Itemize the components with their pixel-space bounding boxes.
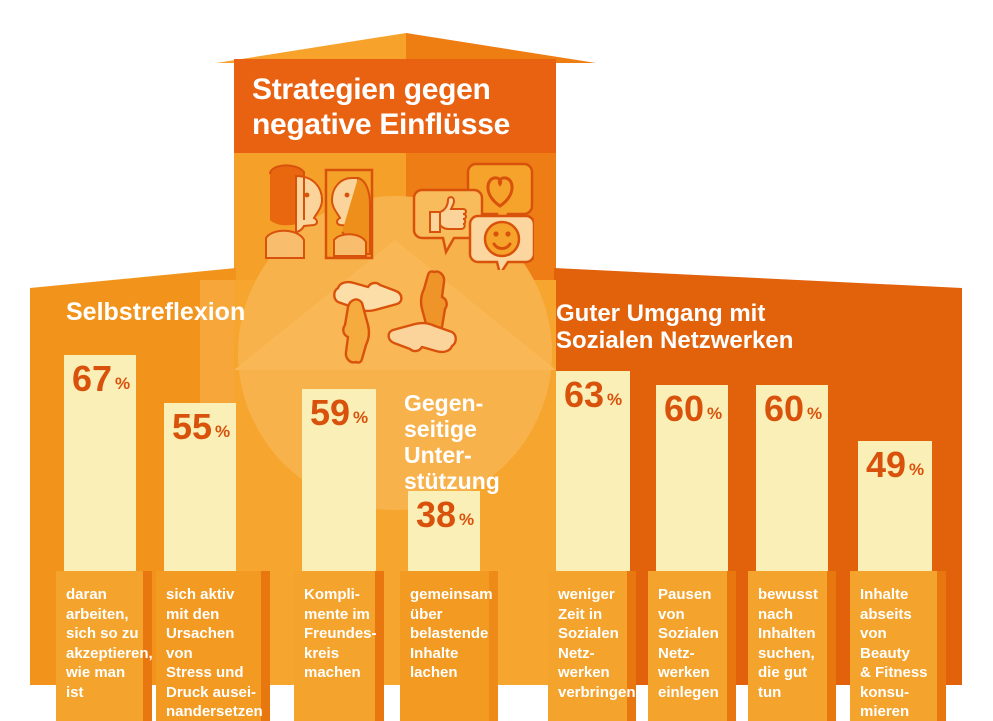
bar-caption-box-6: Pausen von Sozialen Netz- werken einlege… [648,571,736,721]
bar-value-number: 60 [764,388,804,429]
bar-caption-5: weniger Zeit in Sozialen Netz- werken ve… [558,585,626,702]
bar-value-7: 60% [764,391,822,432]
caption-edge [827,571,836,721]
four-hands-support-icon [330,262,460,377]
bar-caption-box-4: gemeinsam über belastende Inhalte lachen [400,571,498,721]
bar-value-3: 59% [310,395,368,436]
percent-symbol: % [353,408,368,427]
section-heading-guter-umgang: Guter Umgang mit Sozialen Netzwerken [556,300,856,354]
bar-value-8: 49% [866,447,924,488]
bar-caption-box-3: Kompli- mente im Freundes- kreis machen [294,571,384,721]
bar-caption-3: Kompli- mente im Freundes- kreis machen [304,585,374,683]
percent-symbol: % [707,404,722,423]
bar-value-number: 38 [416,494,456,535]
bar-group-1: 67% daran arbeiten, sich so zu akzeptier… [64,355,136,685]
bar-group-8: 49% Inhalte abseits von Beauty & Fitness… [858,441,932,685]
bar-value-number: 59 [310,392,350,433]
bar-caption-8: Inhalte abseits von Beauty & Fitness kon… [860,585,936,721]
bar-caption-box-8: Inhalte abseits von Beauty & Fitness kon… [850,571,946,721]
bar-value-4: 38% [416,497,474,538]
bar-caption-2: sich aktiv mit den Ursachen von Stress u… [166,585,260,721]
bar-caption-box-2: sich aktiv mit den Ursachen von Stress u… [156,571,270,721]
bar-caption-6: Pausen von Sozialen Netz- werken einlege… [658,585,726,702]
bar-caption-4: gemeinsam über belastende Inhalte lachen [410,585,488,683]
bar-value-1: 67% [72,361,130,402]
caption-edge [727,571,736,721]
bar-caption-box-7: bewusst nach Inhalten suchen, die gut tu… [748,571,836,721]
percent-symbol: % [215,422,230,441]
woman-mirror-icon [252,162,376,271]
bar-value-number: 67 [72,358,112,399]
bar-value-6: 60% [664,391,722,432]
social-reactions-icon [412,162,534,275]
bar-caption-1: daran arbeiten, sich so zu akzeptieren, … [66,585,142,702]
bar-group-5: 63% weniger Zeit in Sozialen Netz- werke… [556,371,630,685]
percent-symbol: % [459,510,474,529]
bar-value-number: 63 [564,374,604,415]
bar-caption-box-1: daran arbeiten, sich so zu akzeptieren, … [56,571,152,721]
bar-value-number: 55 [172,406,212,447]
infographic-canvas: Strategien gegen negative Einflüsse [0,0,993,721]
percent-symbol: % [807,404,822,423]
percent-symbol: % [115,374,130,393]
bar-value-2: 55% [172,409,230,450]
caption-edge [261,571,270,721]
bar-group-3: 59% Kompli- mente im Freundes- kreis mac… [302,389,376,685]
bar-value-5: 63% [564,377,622,418]
bar-group-4: 38% gemeinsam über belastende Inhalte la… [408,491,480,685]
bar-value-number: 49 [866,444,906,485]
caption-edge [937,571,946,721]
caption-edge [375,571,384,721]
bar-group-2: 55% sich aktiv mit den Ursachen von Stre… [164,403,236,685]
bar-group-6: 60% Pausen von Sozialen Netz- werken ein… [656,385,728,685]
section-heading-gegenseitige-unterstuetzung: Gegen- seitige Unter- stützung [404,390,539,494]
percent-symbol: % [909,460,924,479]
percent-symbol: % [607,390,622,409]
bar-caption-7: bewusst nach Inhalten suchen, die gut tu… [758,585,826,702]
page-title: Strategien gegen negative Einflüsse [252,72,552,142]
bar-caption-box-5: weniger Zeit in Sozialen Netz- werken ve… [548,571,636,721]
bar-value-number: 60 [664,388,704,429]
bar-group-7: 60% bewusst nach Inhalten suchen, die gu… [756,385,828,685]
section-heading-selbstreflexion: Selbstreflexion [66,298,245,326]
